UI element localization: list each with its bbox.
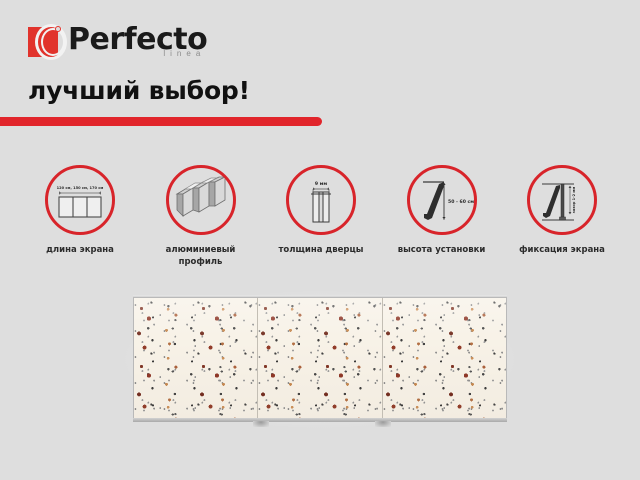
mark-registered-dot-icon [55,26,61,32]
accent-rule [0,117,322,126]
screen-panel [383,298,506,419]
screen-fixing-icon: зазор 1-2 мм [527,165,597,235]
feature-label: толщина дверцы [279,244,364,256]
feature-label: высота установки [398,244,486,256]
product-image [133,297,507,422]
brand-wordmark: Perfecto linea [68,25,207,58]
bath-screen [133,297,507,420]
screen-panel [258,298,382,419]
feature-label: длина экрана [46,244,114,256]
screen-foot [375,421,391,427]
feature-label: фиксация экрана [519,244,605,256]
door-thickness-detail: 9 мм [315,181,328,187]
panel-sheen [134,298,257,419]
feature-item-door-thickness: 9 мм толщина дверцы [265,165,377,268]
screen-length-icon: 120 см, 150 см, 170 см [45,165,115,235]
mark-arc-inner [41,28,65,56]
feature-item-install-height: 50 - 60 см высота установки [386,165,498,268]
feature-list: 120 см, 150 см, 170 см длина экрана [24,165,618,268]
screen-bottom-rail [133,418,507,422]
feature-item-screen-fixing: зазор 1-2 мм фиксация экрана [506,165,618,268]
door-thickness-icon: 9 мм [286,165,356,235]
feature-item-aluminium-profile: алюминиевый профиль [145,165,257,268]
brand-logo: Perfecto linea [28,25,207,59]
panel-sheen [258,298,381,419]
perfecto-mark-icon [28,25,62,59]
feature-label: алюминиевый профиль [149,244,253,268]
panel-sheen [383,298,506,419]
feature-item-screen-length: 120 см, 150 см, 170 см длина экрана [24,165,136,268]
screen-fixing-detail: зазор 1-2 мм [572,187,576,214]
screen-panel [134,298,258,419]
install-height-detail: 50 - 60 см [448,199,474,205]
install-height-icon: 50 - 60 см [407,165,477,235]
screen-length-detail: 120 см, 150 см, 170 см [57,186,104,190]
page-title: лучший выбор! [28,76,250,105]
aluminium-profile-icon [166,165,236,235]
promo-page: Perfecto linea лучший выбор! 120 см, 150… [0,0,640,480]
screen-foot [253,421,269,427]
